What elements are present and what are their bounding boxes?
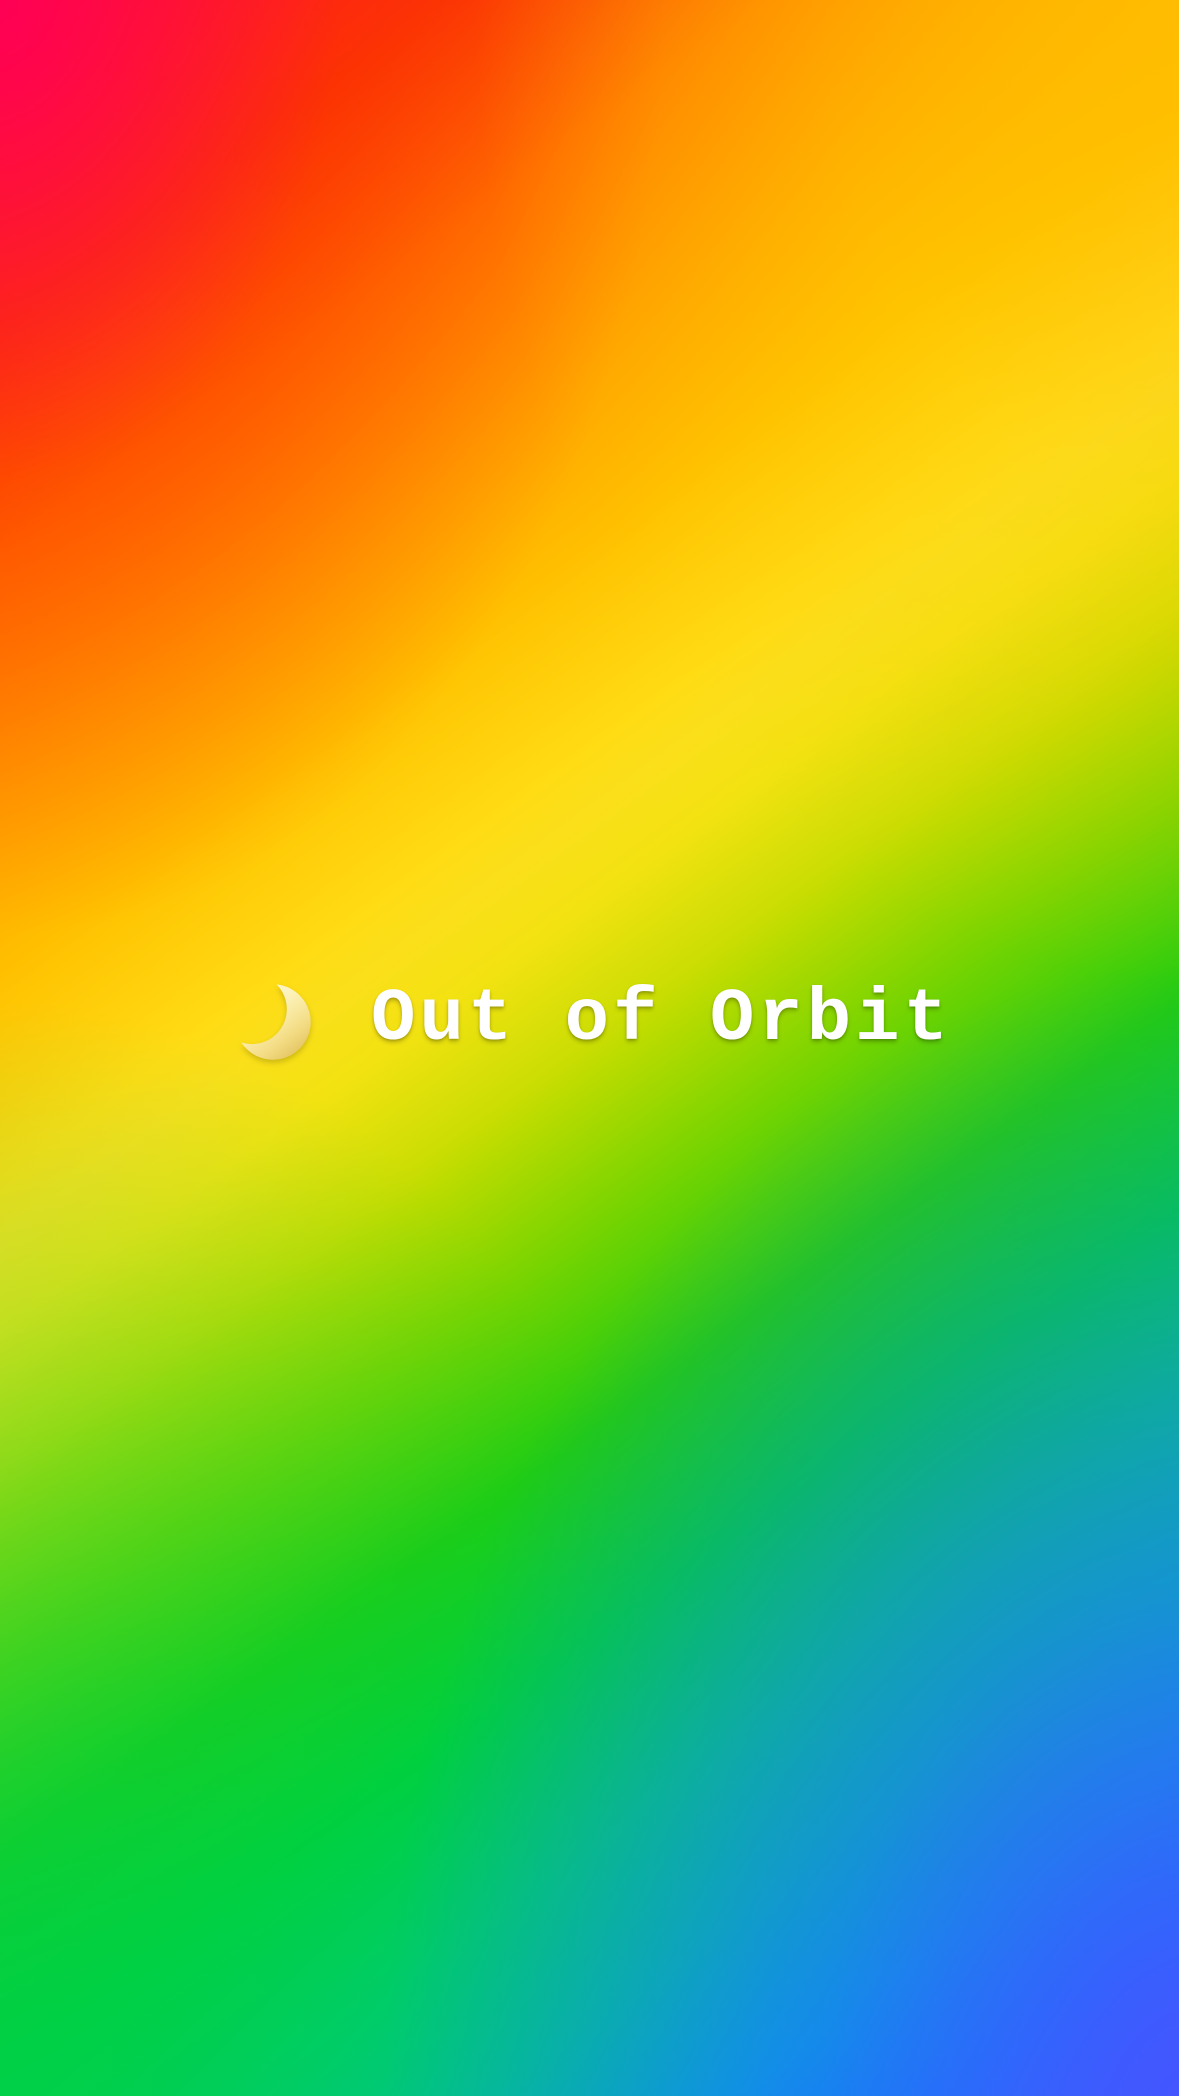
splash-screen: Out of Orbit: [0, 0, 1179, 2096]
crescent-moon-icon: [227, 976, 319, 1068]
app-title-block: Out of Orbit: [0, 972, 1179, 1068]
app-title: Out of Orbit: [371, 983, 952, 1057]
